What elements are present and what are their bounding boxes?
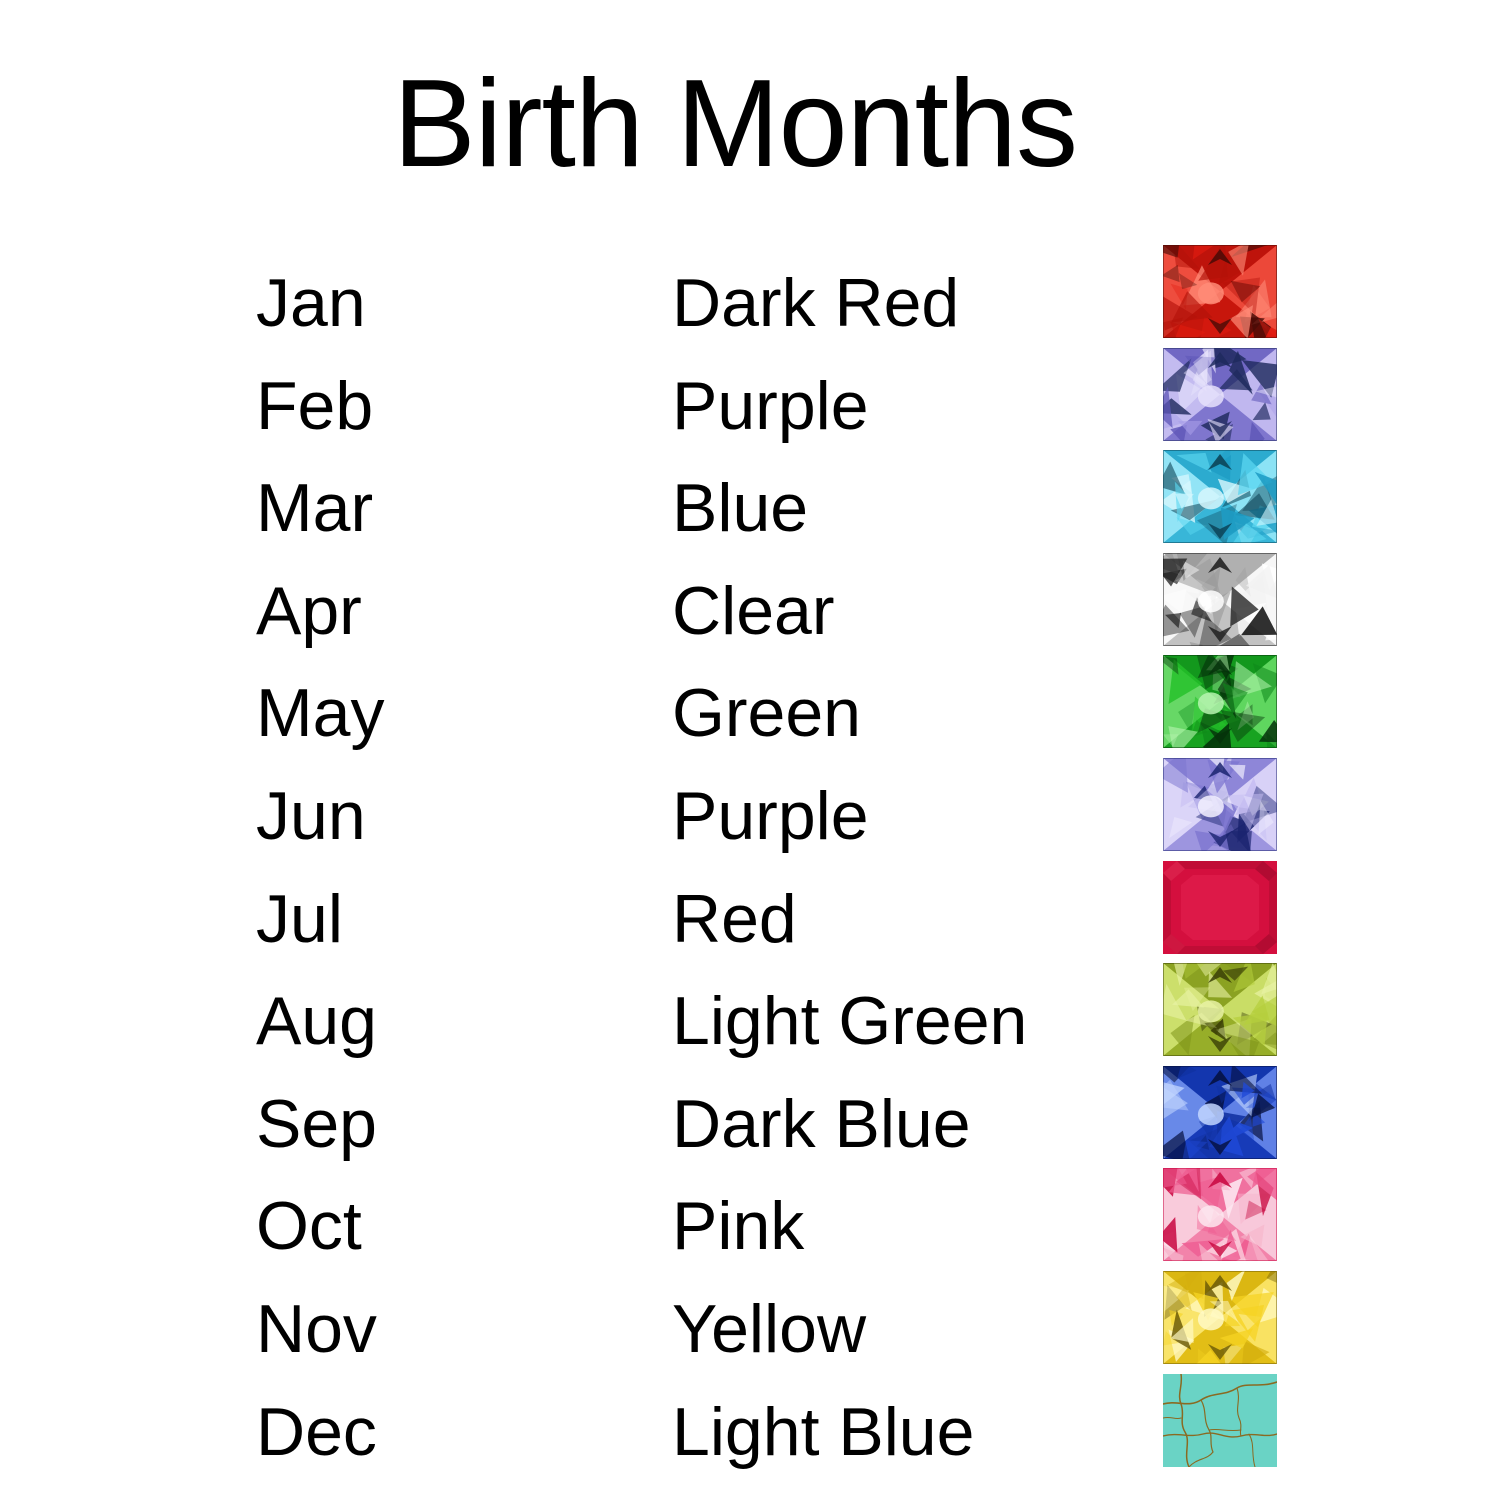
table-row: DecLight Blue (256, 1383, 1286, 1486)
month-label: Nov (256, 1280, 636, 1378)
color-label: Yellow (672, 1280, 1172, 1378)
table-row: MayGreen (256, 664, 1286, 767)
amethyst-gem (1163, 348, 1277, 441)
gemstone-cell (1163, 450, 1277, 543)
color-label: Light Blue (672, 1383, 1172, 1481)
month-label: Jun (256, 767, 636, 865)
gemstone-cell (1163, 245, 1277, 338)
ruby-gem (1163, 861, 1277, 954)
peridot-gem (1163, 963, 1277, 1056)
gemstone-cell (1163, 861, 1277, 954)
gemstone-cell (1163, 1066, 1277, 1159)
pink-tourmaline-gem (1163, 1168, 1277, 1261)
gemstone-cell (1163, 1374, 1277, 1467)
aquamarine-gem (1163, 450, 1277, 543)
gemstone-cell (1163, 758, 1277, 851)
color-label: Dark Blue (672, 1075, 1172, 1173)
color-label: Red (672, 870, 1172, 968)
emerald-gem (1163, 655, 1277, 748)
sapphire-gem (1163, 1066, 1277, 1159)
page-title: Birth Months (0, 62, 1470, 186)
month-label: Sep (256, 1075, 636, 1173)
month-label: Dec (256, 1383, 636, 1481)
color-label: Blue (672, 459, 1172, 557)
table-row: AugLight Green (256, 972, 1286, 1075)
table-row: NovYellow (256, 1280, 1286, 1383)
turquoise-gem (1163, 1374, 1277, 1467)
table-row: JanDark Red (256, 254, 1286, 357)
month-label: May (256, 664, 636, 762)
month-label: Oct (256, 1177, 636, 1275)
gemstone-cell (1163, 1168, 1277, 1261)
birth-months-chart: Birth Months JanDark RedFebPurpleMarBlue… (0, 0, 1500, 1500)
month-label: Feb (256, 357, 636, 455)
month-label: Jul (256, 870, 636, 968)
color-label: Pink (672, 1177, 1172, 1275)
month-label: Mar (256, 459, 636, 557)
table-row: JulRed (256, 870, 1286, 973)
color-label: Clear (672, 562, 1172, 660)
gemstone-cell (1163, 348, 1277, 441)
table-row: MarBlue (256, 459, 1286, 562)
color-label: Purple (672, 357, 1172, 455)
month-label: Apr (256, 562, 636, 660)
garnet-gem (1163, 245, 1277, 338)
table-row: SepDark Blue (256, 1075, 1286, 1178)
gemstone-cell (1163, 1271, 1277, 1364)
month-label: Jan (256, 254, 636, 352)
color-label: Dark Red (672, 254, 1172, 352)
diamond-gem (1163, 553, 1277, 646)
table-row: OctPink (256, 1177, 1286, 1280)
table-row: AprClear (256, 562, 1286, 665)
month-label: Aug (256, 972, 636, 1070)
color-label: Green (672, 664, 1172, 762)
color-label: Light Green (672, 972, 1172, 1070)
citrine-gem (1163, 1271, 1277, 1364)
table-row: JunPurple (256, 767, 1286, 870)
birth-months-table: JanDark RedFebPurpleMarBlueAprClearMayGr… (256, 254, 1286, 1485)
color-label: Purple (672, 767, 1172, 865)
gemstone-cell (1163, 655, 1277, 748)
table-row: FebPurple (256, 357, 1286, 460)
gemstone-cell (1163, 553, 1277, 646)
alexandrite-gem (1163, 758, 1277, 851)
gemstone-cell (1163, 963, 1277, 1056)
